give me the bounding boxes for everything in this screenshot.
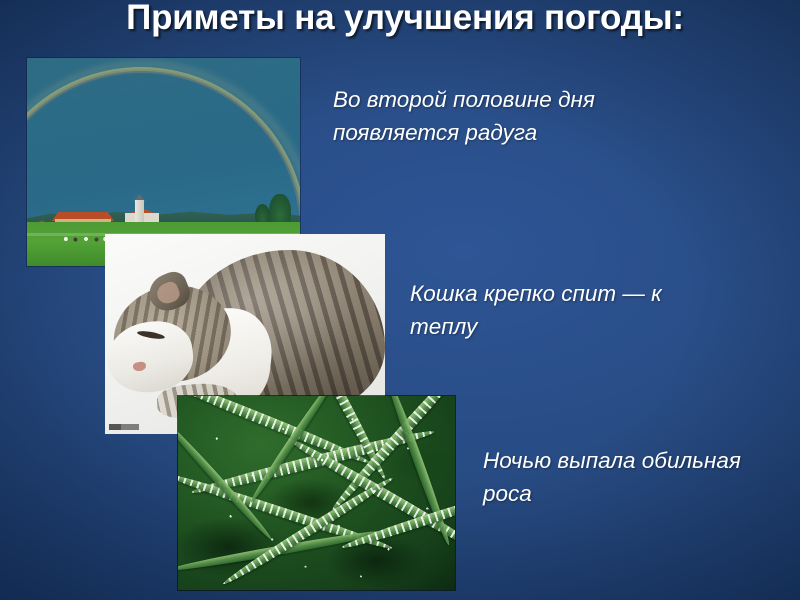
presentation-slide: Приметы на улучшения погоды: (0, 0, 800, 600)
dewy-grass-photo (178, 396, 455, 590)
bullet-text-rainbow: Во второй половине дня появляется радуга (333, 84, 633, 149)
dew-droplets (178, 396, 455, 590)
slide-title: Приметы на улучшения погоды: (100, 0, 710, 41)
bullet-text-dew: Ночью выпала обильная роса (483, 445, 753, 510)
grazing-cows (61, 236, 109, 242)
bullet-text-cat: Кошка крепко спит — к теплу (410, 278, 700, 343)
photo-watermark (109, 424, 139, 430)
